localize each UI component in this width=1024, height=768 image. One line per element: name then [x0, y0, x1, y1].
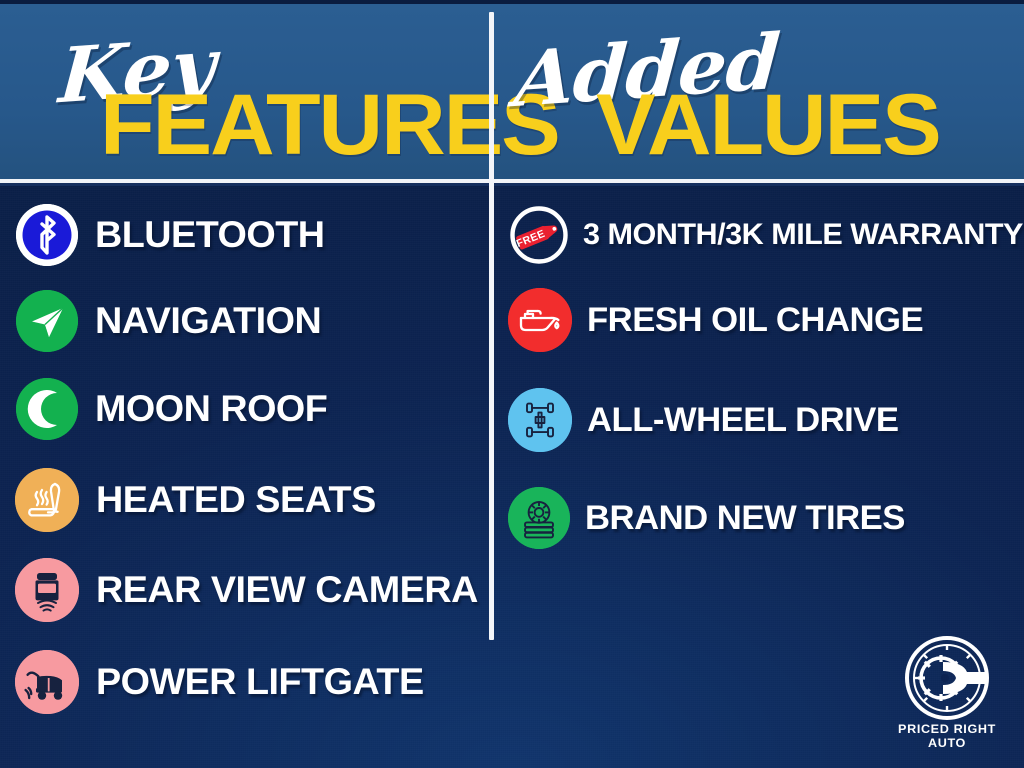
list-item: NAVIGATION: [16, 290, 317, 352]
free-tag-icon: FREE: [510, 206, 568, 264]
values-headline: VALUES: [596, 82, 940, 168]
list-item: BLUETOOTH: [16, 204, 320, 266]
list-item: FRESH OIL CHANGE: [508, 288, 917, 352]
list-item: FREE 3 MONTH/3K MILE WARRANTY: [510, 206, 1014, 264]
list-item-label: HEATED SEATS: [96, 479, 376, 521]
list-item-label: NAVIGATION: [95, 300, 321, 342]
list-item: REAR VIEW CAMERA: [15, 558, 470, 622]
list-item: BRAND NEW TIRES: [508, 487, 899, 549]
header-divider-shadow: [0, 183, 1024, 186]
heated-seat-icon: [15, 468, 79, 532]
list-item-label: REAR VIEW CAMERA: [96, 569, 478, 611]
bluetooth-icon: [16, 204, 78, 266]
list-item-label: 3 MONTH/3K MILE WARRANTY: [583, 218, 1023, 252]
oil-can-icon: [508, 288, 572, 352]
dealer-logo: PRICED RIGHT AUTO: [896, 636, 998, 740]
header-added-values: Added VALUES: [496, 4, 1024, 179]
list-item-label: FRESH OIL CHANGE: [587, 301, 923, 340]
stacked-tires-icon: [508, 487, 570, 549]
list-item-label: ALL-WHEEL DRIVE: [587, 401, 899, 440]
dealership-feature-poster: Key FEATURES Added VALUES BLUETOOTH: [0, 0, 1024, 768]
rear-view-camera-icon: [15, 558, 79, 622]
list-item: HEATED SEATS: [15, 468, 370, 532]
list-item-label: BRAND NEW TIRES: [585, 499, 905, 538]
list-item-label: MOON ROOF: [95, 388, 327, 430]
moon-crescent-icon: [16, 378, 78, 440]
column-divider: [489, 12, 494, 640]
list-item: MOON ROOF: [16, 378, 323, 440]
navigation-arrow-icon: [16, 290, 78, 352]
list-item-label: BLUETOOTH: [95, 214, 325, 256]
logo-wordmark: PRICED RIGHT AUTO: [893, 722, 1000, 750]
list-item: ALL-WHEEL DRIVE: [508, 388, 892, 452]
drivetrain-icon: [508, 388, 572, 452]
list-item-label: POWER LIFTGATE: [96, 661, 424, 703]
gear-wheel-emblem-icon: [905, 636, 989, 720]
power-liftgate-icon: [15, 650, 79, 714]
header-key-features: Key FEATURES: [0, 4, 492, 179]
list-item: POWER LIFTGATE: [15, 650, 417, 714]
